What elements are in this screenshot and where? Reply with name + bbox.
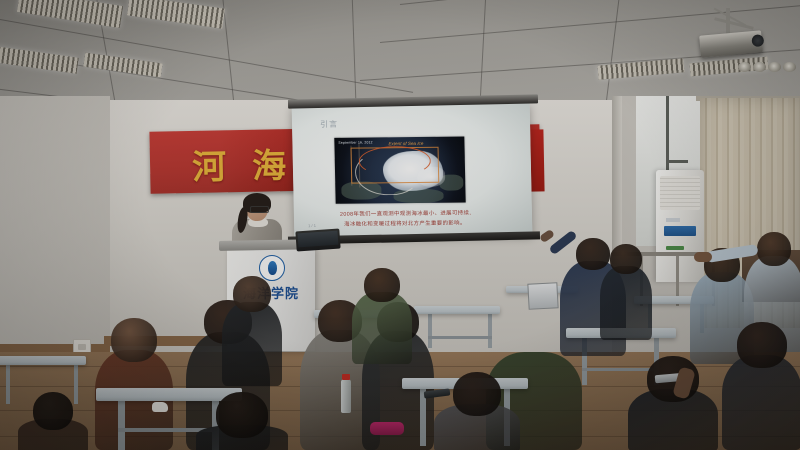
audience-head: [364, 268, 400, 302]
ceiling-light-panel: [83, 53, 162, 78]
banner-char-1: 河: [192, 139, 233, 189]
audience-member-bottom-mid: [434, 372, 520, 450]
ceiling-light-panel: [0, 46, 79, 74]
ac-energy-label: [666, 246, 684, 250]
spotlight-icon: [783, 62, 796, 72]
audience-head: [111, 318, 157, 362]
eyeglass-case[interactable]: [370, 422, 404, 435]
audience-head: [216, 392, 268, 438]
slide-page-marker: 1 / 1: [308, 223, 316, 228]
audience-member-far-left: [18, 392, 88, 450]
suspended-ceiling: [0, 0, 800, 108]
spotlight-icon: [768, 62, 781, 72]
ceiling-grid-line: [352, 0, 358, 108]
audience-torso: [600, 266, 652, 340]
slide-title: 引言: [320, 119, 338, 130]
projection-screen: 引言 September 16, 2012 Extent of Sea Ice …: [292, 103, 533, 237]
slide-caption-line-2: 海冰融化和变暖过程将对北方产生重要的影响。: [344, 218, 466, 227]
ceiling-grid-line: [602, 0, 620, 108]
ceiling-light-panel: [17, 0, 123, 28]
audience-head: [510, 320, 558, 364]
extended-hand: [694, 252, 712, 262]
presenter-laptop[interactable]: [295, 228, 340, 251]
ceiling-light-panel: [127, 0, 225, 29]
audience-torso: [222, 302, 282, 386]
presentation-slide: 引言 September 16, 2012 Extent of Sea Ice …: [298, 108, 527, 232]
banner-text: 河 海: [192, 138, 293, 189]
audience-head: [453, 372, 501, 416]
laptop-screen: [297, 231, 338, 248]
audience-member-bottom-left: [196, 392, 288, 450]
audience-member-bottom-right: [628, 356, 718, 450]
audience-head: [757, 232, 791, 266]
ceiling-grid-line: [478, 0, 486, 108]
audience-torso: [352, 292, 412, 364]
audience-torso: [722, 355, 800, 450]
audience-member-center-left: [222, 276, 282, 386]
spotlight-icon: [738, 62, 751, 72]
satellite-overlay-title: Extent of Sea Ice: [388, 141, 423, 146]
desktop-monitor[interactable]: [527, 282, 558, 310]
window-latch[interactable]: [666, 160, 688, 163]
water-bottle[interactable]: [341, 379, 351, 413]
student-desk: [0, 356, 86, 365]
spotlight-icon: [753, 62, 766, 72]
audience-head: [33, 392, 73, 430]
desk-leg: [6, 364, 10, 404]
audience-head: [610, 244, 642, 274]
banner-char-2: 海: [252, 138, 293, 188]
ac-display-panel[interactable]: [664, 226, 696, 236]
audience-head: [233, 276, 271, 312]
audience-member-back-right: [600, 244, 652, 340]
bottle-cap: [342, 374, 350, 380]
ac-air-grille: [660, 176, 700, 210]
tissue-ball: [152, 402, 168, 412]
desk-leg: [118, 400, 125, 450]
emblem-wave-glyph: [268, 261, 277, 275]
lecture-hall-photo: 院 河 海 引言 September 16, 2012: [0, 0, 800, 450]
desk-footrail: [428, 336, 492, 339]
satellite-date-label: September 16, 2012: [338, 140, 372, 144]
ceiling-grid-line: [400, 0, 800, 5]
arctic-sea-ice-satellite-image: September 16, 2012 Extent of Sea Ice: [334, 136, 465, 203]
slide-caption-line-1: 2008年我们一直观测中观测海冰最小、进展可持续,: [340, 208, 471, 217]
ac-brand-badge: [666, 218, 680, 222]
audience-member-right-front: [722, 322, 800, 450]
audience-member-back-center: [352, 268, 412, 364]
glasses-icon: [250, 206, 269, 213]
audience-head: [737, 322, 787, 368]
ceiling-spotlight-row: [738, 62, 796, 72]
